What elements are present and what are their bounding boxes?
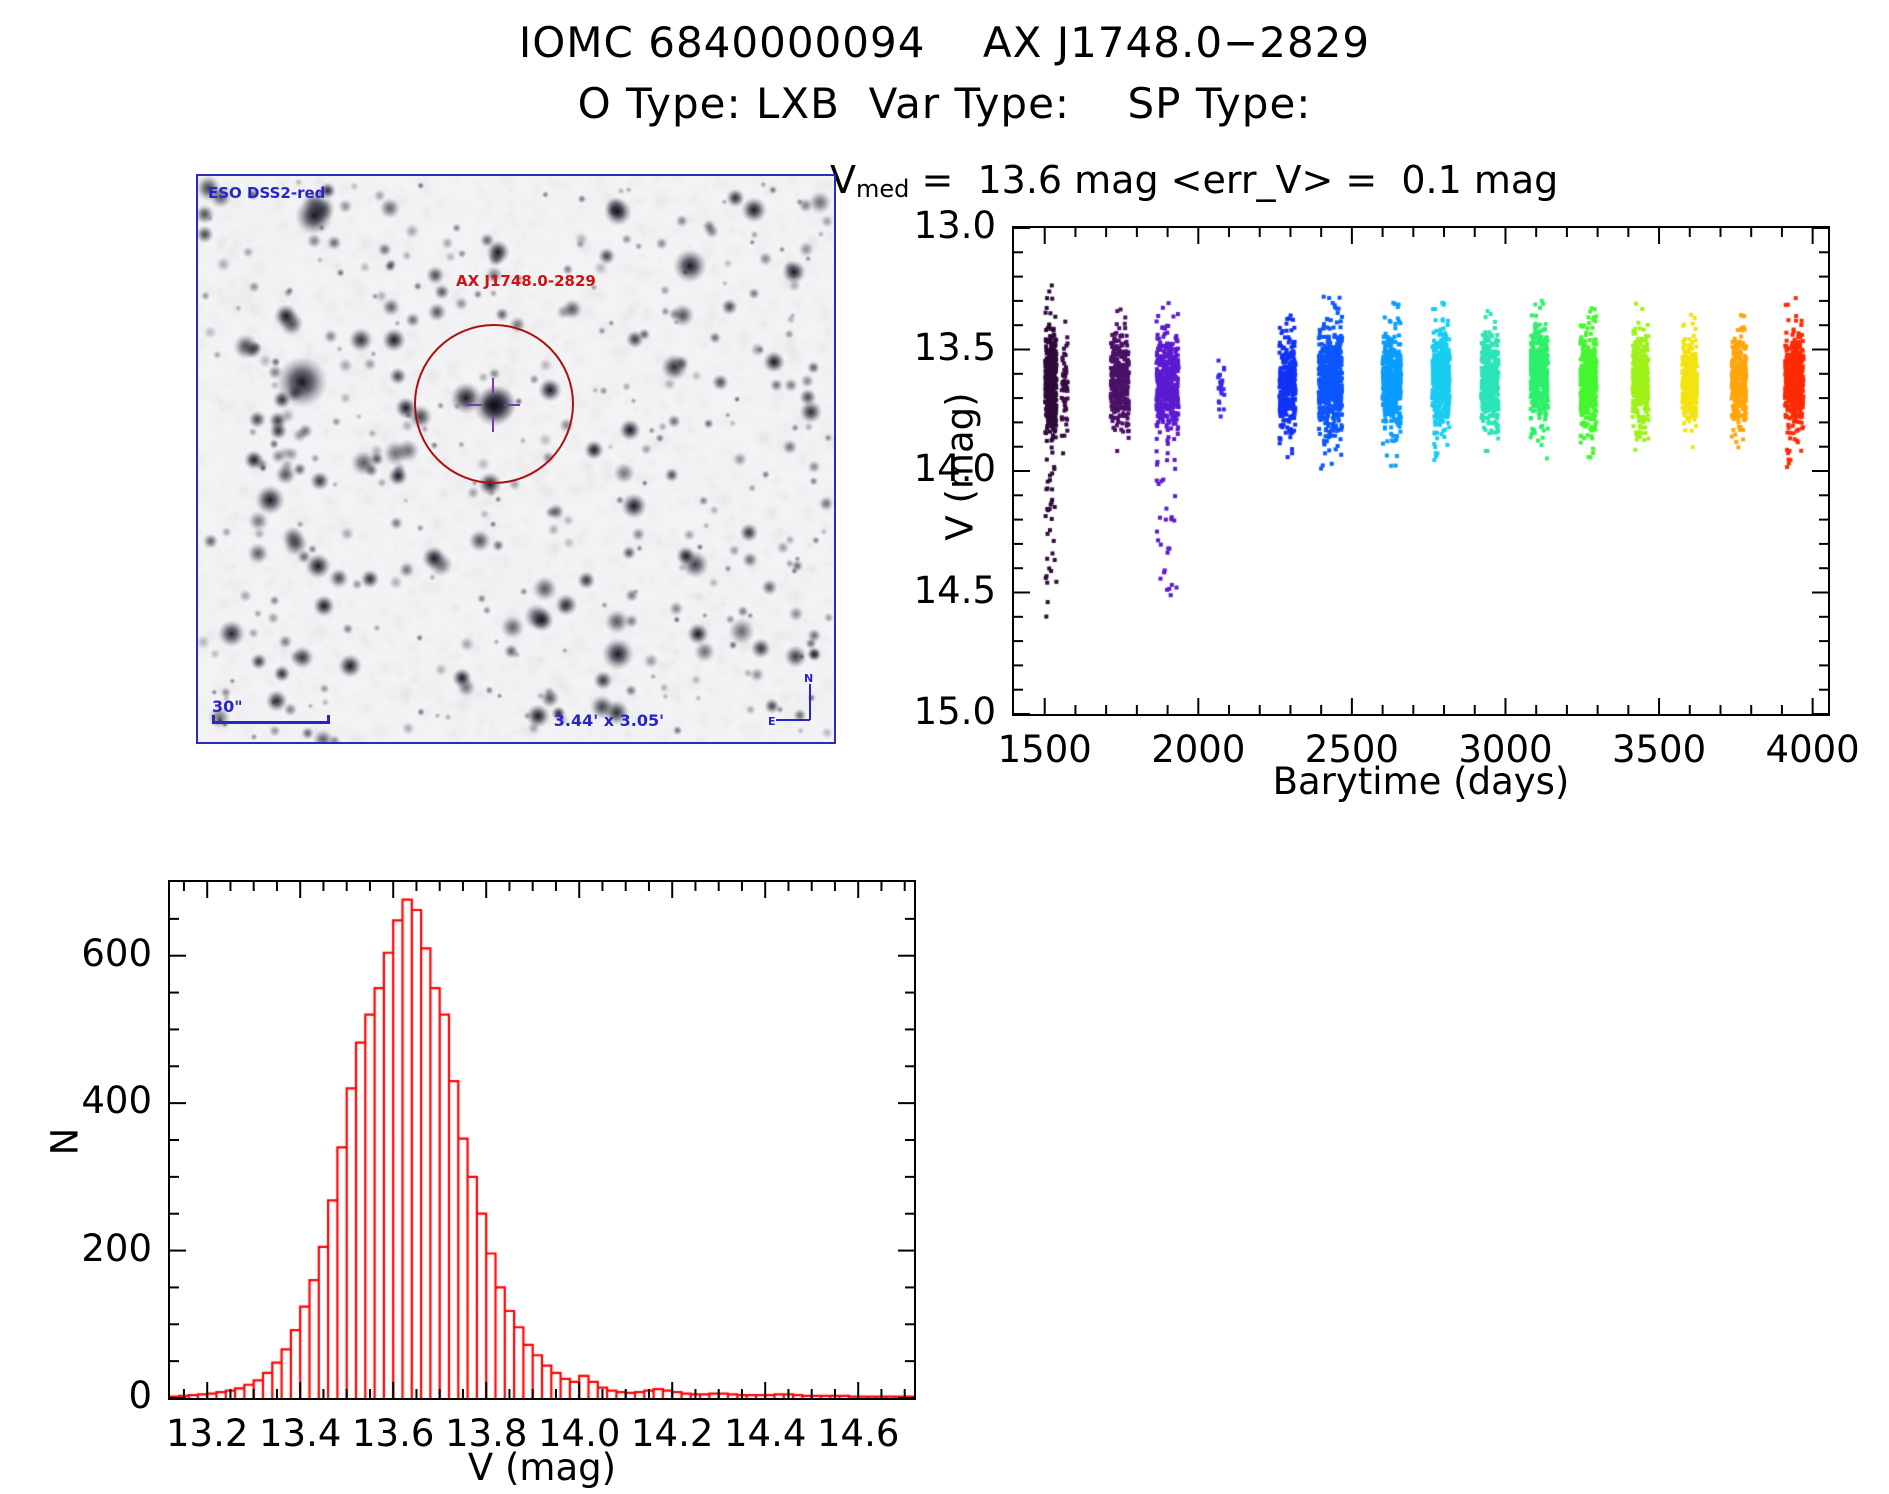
histogram-plot[interactable] (168, 880, 916, 1400)
lightcurve-plot[interactable] (1012, 226, 1830, 716)
dss-scale-label: 30" (212, 697, 243, 716)
histogram-yaxis-label: N (44, 1097, 87, 1187)
axis-tick-label: 200 (81, 1227, 152, 1270)
axis-tick-label: 15.0 (914, 690, 996, 733)
dss-object-label: AX J1748.0-2829 (456, 272, 596, 290)
dss-survey-label: ESO DSS2-red (208, 184, 325, 202)
dss-scale-bar (212, 715, 330, 724)
axis-tick-label: 600 (81, 932, 152, 975)
svg-text:N: N (804, 672, 813, 685)
lightcurve-points (1014, 228, 1828, 714)
histogram-xaxis-label: V (mag) (168, 1446, 916, 1489)
vmed-subscript: med (856, 175, 909, 203)
dss-fov-label: 3.44' x 3.05' (554, 711, 664, 730)
dss-finding-chart[interactable]: ESO DSS2-red AX J1748.0-2829 30" 3.44' x… (196, 174, 836, 744)
lightcurve-yaxis-label: V (mag) (939, 337, 982, 597)
vmed-summary: Vmed = 13.6 mag <err_V> = 0.1 mag (830, 158, 1550, 203)
compass-icon: N E (768, 672, 822, 728)
axis-tick-label: 400 (81, 1079, 152, 1122)
title-line-types: O Type: LXB Var Type: SP Type: (0, 79, 1889, 128)
crosshair-icon (466, 378, 520, 432)
title-line-object: IOMC 6840000094 AX J1748.0−2829 (0, 18, 1889, 67)
page-title: IOMC 6840000094 AX J1748.0−2829 O Type: … (0, 18, 1889, 128)
svg-text:E: E (768, 715, 776, 728)
vmed-values: = 13.6 mag <err_V> = 0.1 mag (909, 158, 1558, 202)
axis-tick-label: 0 (128, 1374, 152, 1417)
histogram-bars (170, 882, 914, 1398)
lightcurve-xaxis-label: Barytime (days) (1012, 760, 1830, 803)
axis-tick-label: 13.0 (914, 204, 996, 247)
